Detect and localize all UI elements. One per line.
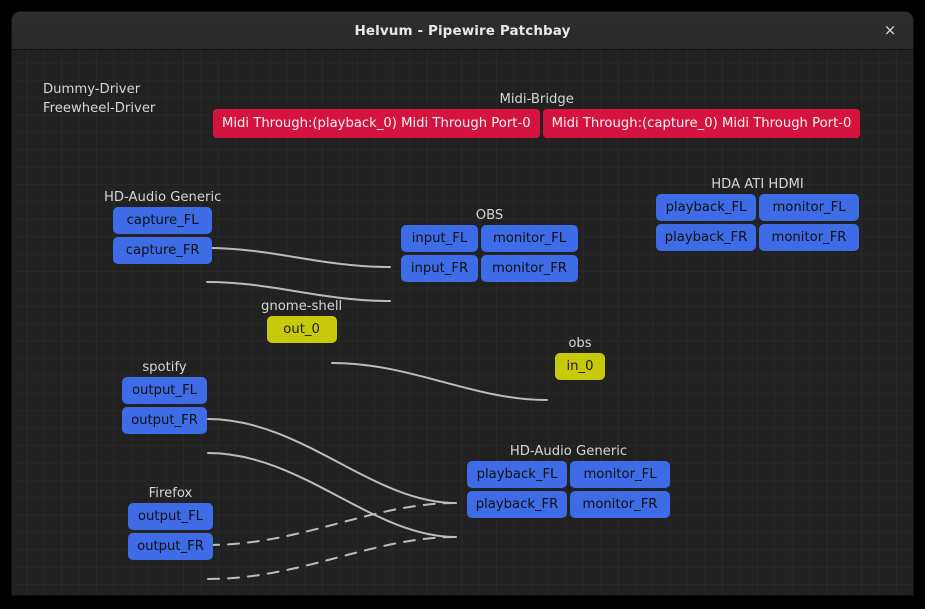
port-rows: in_0 bbox=[555, 353, 605, 380]
port[interactable]: output_FL bbox=[122, 377, 207, 404]
port-row: playback_FLmonitor_FL bbox=[467, 461, 670, 488]
node-midi-bridge[interactable]: Midi-BridgeMidi Through:(playback_0) Mid… bbox=[213, 92, 860, 138]
port-row: playback_FRmonitor_FR bbox=[467, 491, 670, 518]
node-title: obs bbox=[568, 336, 591, 351]
port-row: input_FLmonitor_FL bbox=[401, 225, 578, 252]
node-title: gnome-shell bbox=[261, 299, 342, 314]
port[interactable]: output_FR bbox=[122, 407, 207, 434]
port-rows: Midi Through:(playback_0) Midi Through P… bbox=[213, 109, 860, 138]
port-rows: out_0 bbox=[267, 316, 337, 343]
port-row: in_0 bbox=[555, 353, 605, 380]
node-title: Midi-Bridge bbox=[500, 92, 574, 107]
node-title: HD-Audio Generic bbox=[510, 444, 627, 459]
port[interactable]: in_0 bbox=[555, 353, 605, 380]
port-row: capture_FR bbox=[113, 237, 212, 264]
window-title: Helvum - Pipewire Patchbay bbox=[355, 23, 571, 39]
port[interactable]: monitor_FL bbox=[481, 225, 578, 252]
link-capture-fl-to-obs-input-fl[interactable] bbox=[207, 248, 390, 267]
port-row: output_FL bbox=[122, 377, 207, 404]
port-row: output_FR bbox=[128, 533, 213, 560]
node-hd-audio-generic-playback[interactable]: HD-Audio Genericplayback_FLmonitor_FLpla… bbox=[467, 444, 670, 518]
port-row: playback_FLmonitor_FL bbox=[656, 194, 859, 221]
port-rows: output_FLoutput_FR bbox=[128, 503, 213, 560]
port[interactable]: playback_FR bbox=[656, 224, 756, 251]
port[interactable]: Midi Through:(playback_0) Midi Through P… bbox=[213, 109, 540, 138]
driver-label: Freewheel-Driver bbox=[43, 101, 155, 116]
node-title: HD-Audio Generic bbox=[104, 190, 221, 205]
link-spotify-fl-to-playback-fl[interactable] bbox=[208, 419, 456, 503]
port[interactable]: output_FL bbox=[128, 503, 213, 530]
port-row: capture_FL bbox=[113, 207, 212, 234]
port[interactable]: input_FR bbox=[401, 255, 478, 282]
port[interactable]: Midi Through:(capture_0) Midi Through Po… bbox=[543, 109, 861, 138]
port[interactable]: monitor_FL bbox=[759, 194, 859, 221]
node-hda-ati-hdmi[interactable]: HDA ATI HDMIplayback_FLmonitor_FLplaybac… bbox=[656, 177, 859, 251]
driver-label: Dummy-Driver bbox=[43, 82, 140, 97]
port[interactable]: playback_FR bbox=[467, 491, 567, 518]
port[interactable]: monitor_FR bbox=[759, 224, 859, 251]
node-title: spotify bbox=[142, 360, 186, 375]
link-gnome-shell-out0-to-obs-in0[interactable] bbox=[332, 363, 547, 400]
port[interactable]: out_0 bbox=[267, 316, 337, 343]
node-obs-source[interactable]: obsin_0 bbox=[555, 336, 605, 380]
port[interactable]: monitor_FR bbox=[570, 491, 670, 518]
patchbay-canvas[interactable]: Dummy-DriverFreewheel-Driver Midi-Bridge… bbox=[12, 50, 913, 595]
port[interactable]: playback_FL bbox=[656, 194, 756, 221]
port-row: output_FR bbox=[122, 407, 207, 434]
port-rows: capture_FLcapture_FR bbox=[113, 207, 212, 264]
link-firefox-fr-to-playback-fr[interactable] bbox=[208, 537, 456, 579]
title-bar[interactable]: Helvum - Pipewire Patchbay × bbox=[12, 12, 913, 50]
node-title: Firefox bbox=[149, 486, 193, 501]
node-title: HDA ATI HDMI bbox=[711, 177, 804, 192]
port[interactable]: input_FL bbox=[401, 225, 478, 252]
link-firefox-fl-to-playback-fl[interactable] bbox=[208, 503, 456, 545]
port-rows: input_FLmonitor_FLinput_FRmonitor_FR bbox=[401, 225, 578, 282]
port[interactable]: monitor_FL bbox=[570, 461, 670, 488]
node-obs-sink[interactable]: OBSinput_FLmonitor_FLinput_FRmonitor_FR bbox=[401, 208, 578, 282]
link-spotify-fr-to-playback-fr[interactable] bbox=[208, 453, 456, 537]
port-row: out_0 bbox=[267, 316, 337, 343]
app-window: Helvum - Pipewire Patchbay × Dummy-Drive… bbox=[12, 12, 913, 595]
port-row: Midi Through:(playback_0) Midi Through P… bbox=[213, 109, 860, 138]
port[interactable]: capture_FL bbox=[113, 207, 212, 234]
node-spotify[interactable]: spotifyoutput_FLoutput_FR bbox=[122, 360, 207, 434]
port-row: output_FL bbox=[128, 503, 213, 530]
node-hd-audio-generic-capture[interactable]: HD-Audio Genericcapture_FLcapture_FR bbox=[104, 190, 221, 264]
port[interactable]: capture_FR bbox=[113, 237, 212, 264]
port[interactable]: playback_FL bbox=[467, 461, 567, 488]
port-rows: playback_FLmonitor_FLplayback_FRmonitor_… bbox=[656, 194, 859, 251]
node-firefox[interactable]: Firefoxoutput_FLoutput_FR bbox=[128, 486, 213, 560]
port-row: playback_FRmonitor_FR bbox=[656, 224, 859, 251]
node-title: OBS bbox=[476, 208, 504, 223]
port[interactable]: monitor_FR bbox=[481, 255, 578, 282]
port[interactable]: output_FR bbox=[128, 533, 213, 560]
port-rows: output_FLoutput_FR bbox=[122, 377, 207, 434]
port-row: input_FRmonitor_FR bbox=[401, 255, 578, 282]
port-rows: playback_FLmonitor_FLplayback_FRmonitor_… bbox=[467, 461, 670, 518]
node-gnome-shell[interactable]: gnome-shellout_0 bbox=[261, 299, 342, 343]
close-icon[interactable]: × bbox=[877, 18, 903, 44]
